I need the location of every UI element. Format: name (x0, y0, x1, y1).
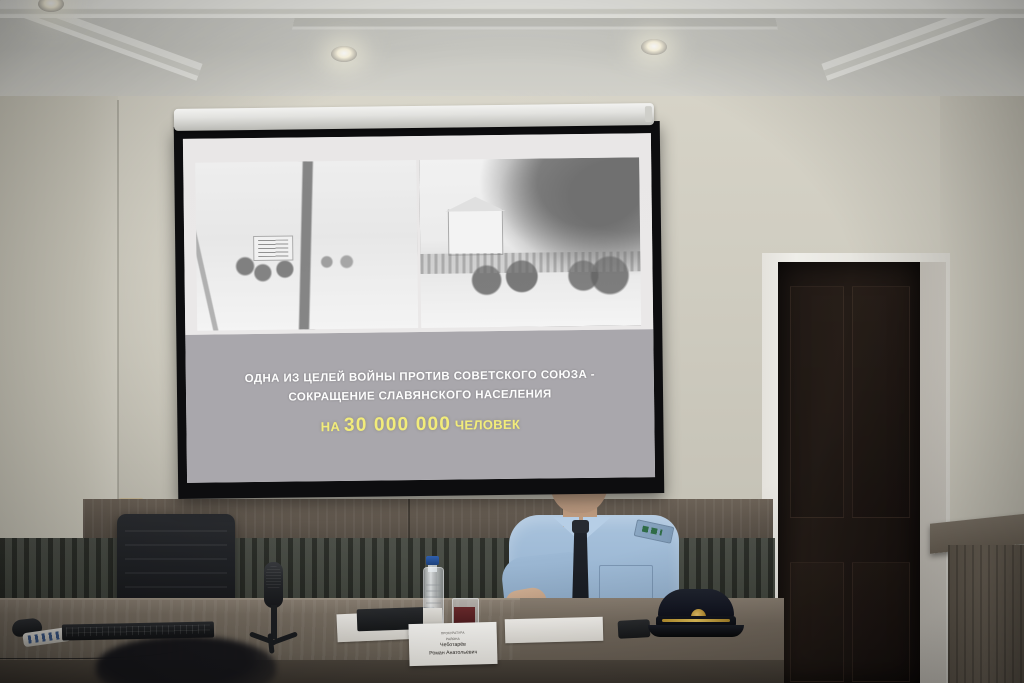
right-wall (940, 96, 1024, 566)
water-bottle-cap[interactable] (426, 556, 439, 565)
photo-soldiers-burning-village (419, 157, 642, 328)
slide-headline-line-2: СОКРАЩЕНИЕ СЛАВЯНСКОГО НАСЕЛЕНИЯ (288, 387, 551, 405)
door-panel-upper-right (852, 286, 910, 518)
slide-photo-row (183, 133, 653, 335)
cap-visor (648, 625, 744, 637)
cornice-right (821, 0, 1024, 70)
nameplate-surname: Чеботарёв (440, 642, 466, 649)
hedge-row (420, 251, 641, 274)
slide-highlight-line: НА 30 000 000 ЧЕЛОВЕК (321, 413, 521, 437)
house-icon (448, 209, 503, 255)
lectern-body (948, 545, 1024, 683)
ceiling (0, 0, 1024, 108)
mobile-phone[interactable] (618, 619, 651, 639)
recessed-spotlight-2-icon (331, 46, 357, 62)
microphone-capsule[interactable] (264, 562, 283, 608)
slide-text-block: ОДНА ИЗ ЦЕЛЕЙ ВОЙНЫ ПРОТИВ СОВЕТСКОГО СО… (185, 329, 655, 483)
projection-screen: ОДНА ИЗ ЦЕЛЕЙ ВОЙНЫ ПРОТИВ СОВЕТСКОГО СО… (183, 133, 655, 483)
door-panel-lower-right (852, 562, 910, 682)
cornice-left (0, 0, 203, 70)
conference-room-photo: ОДНА ИЗ ЦЕЛЕЙ ВОЙНЫ ПРОТИВ СОВЕТСКОГО СО… (0, 0, 1024, 683)
recessed-spotlight-3-icon (641, 39, 667, 55)
cornice-front (0, 0, 1024, 9)
wall-corner-edge (117, 100, 119, 540)
necktie-knot (572, 520, 589, 533)
slide-highlight-suffix: ЧЕЛОВЕК (451, 417, 520, 433)
nameplate-org-line-1: ПРОКУРАТУРА (441, 631, 465, 636)
photo-civilians-column (195, 160, 418, 331)
nameplate-org-line-2: РАЙОНА (446, 637, 460, 642)
wall-panel-seam (408, 499, 410, 539)
projection-screen-frame: ОДНА ИЗ ЦЕЛЕЙ ВОЙНЫ ПРОТИВ СОВЕТСКОГО СО… (174, 121, 665, 499)
door-panel-lower-left (790, 562, 844, 682)
peaked-uniform-cap[interactable] (648, 589, 744, 637)
desk-nameplate: ПРОКУРАТУРА РАЙОНА Чеботарёв Роман Анато… (408, 622, 497, 666)
roller-end-cap (645, 106, 652, 122)
presentation-slide: ОДНА ИЗ ЦЕЛЕЙ ВОЙНЫ ПРОТИВ СОВЕТСКОГО СО… (183, 133, 655, 483)
nameplate-patronymic: Роман Анатольевич (429, 649, 477, 657)
wooden-door[interactable] (778, 262, 920, 683)
slide-headline-line-1: ОДНА ИЗ ЦЕЛЕЙ ВОЙНЫ ПРОТИВ СОВЕТСКОГО СО… (245, 368, 595, 387)
cap-chin-cord (662, 619, 730, 622)
slide-highlight-number: 30 000 000 (344, 414, 451, 436)
papers-right[interactable] (505, 617, 604, 644)
left-wall (0, 96, 118, 566)
slide-highlight-prefix: НА (321, 419, 344, 434)
recessed-spotlight-1-icon (38, 0, 64, 12)
placard-icon (253, 235, 293, 261)
door-panel-upper-left (790, 286, 844, 518)
